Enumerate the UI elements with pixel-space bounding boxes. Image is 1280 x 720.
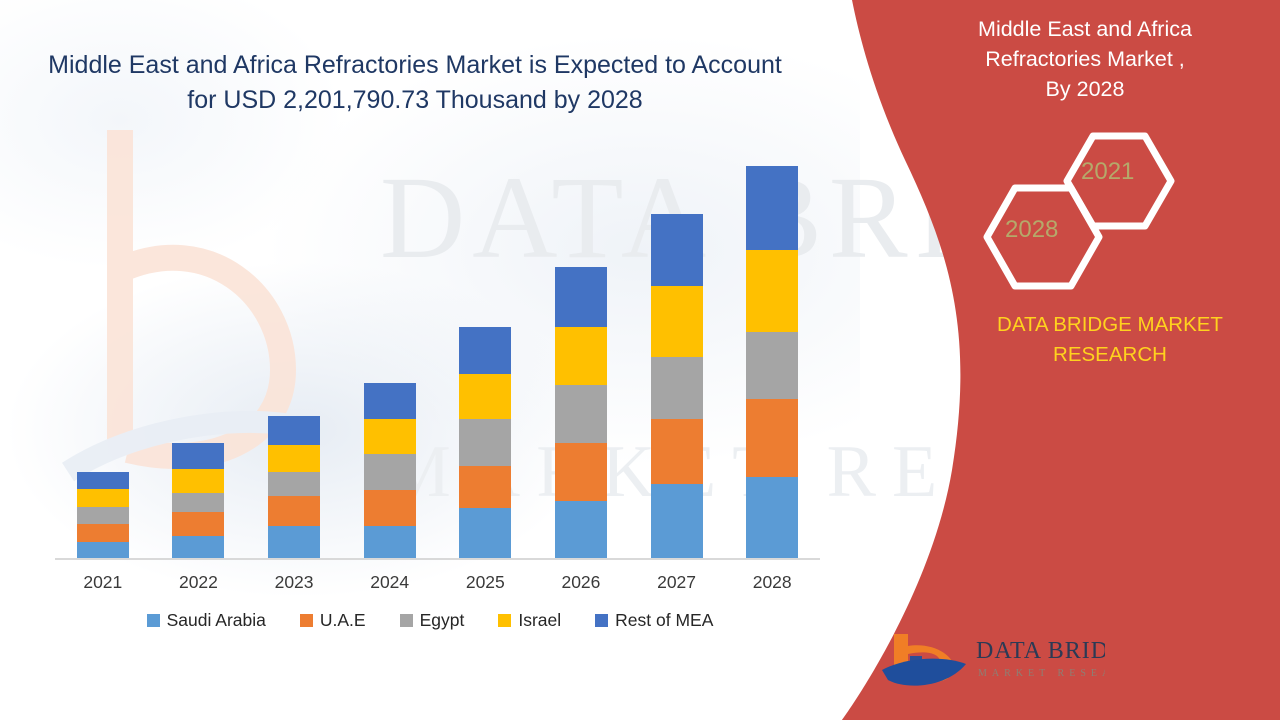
bar-segment-egypt-2021[interactable] bbox=[77, 507, 129, 524]
x-tick-label-2024: 2024 bbox=[342, 572, 438, 593]
hexagon-year-2028: 2028 bbox=[1005, 216, 1058, 244]
x-tick-label-2028: 2028 bbox=[724, 572, 820, 593]
logo-mark-icon bbox=[882, 634, 966, 686]
bar-segment-israel-2028[interactable] bbox=[746, 250, 798, 332]
bar-segment-saudiarabia-2026[interactable] bbox=[555, 501, 607, 559]
bar-segment-saudiarabia-2027[interactable] bbox=[651, 484, 703, 559]
bar-segment-egypt-2024[interactable] bbox=[364, 454, 416, 490]
bar-segment-israel-2023[interactable] bbox=[268, 445, 320, 472]
legend-item-uae[interactable]: U.A.E bbox=[300, 610, 366, 631]
legend-swatch-icon bbox=[147, 614, 160, 627]
x-tick-label-2023: 2023 bbox=[246, 572, 342, 593]
bar-segment-egypt-2025[interactable] bbox=[459, 419, 511, 466]
bar-column-2027[interactable] bbox=[651, 214, 703, 559]
bar-segment-egypt-2027[interactable] bbox=[651, 357, 703, 419]
bar-segment-saudiarabia-2024[interactable] bbox=[364, 526, 416, 559]
bar-segment-israel-2022[interactable] bbox=[172, 469, 224, 493]
bar-segment-egypt-2022[interactable] bbox=[172, 493, 224, 513]
bar-segment-uae-2021[interactable] bbox=[77, 524, 129, 541]
bar-column-2025[interactable] bbox=[459, 327, 511, 559]
x-tick-label-2026: 2026 bbox=[533, 572, 629, 593]
bar-segment-uae-2022[interactable] bbox=[172, 512, 224, 536]
bar-segment-israel-2027[interactable] bbox=[651, 286, 703, 357]
bar-column-2028[interactable] bbox=[746, 166, 798, 559]
bar-segment-restofmea-2024[interactable] bbox=[364, 383, 416, 419]
bar-segment-saudiarabia-2023[interactable] bbox=[268, 526, 320, 559]
watermark-trademark-icon: ™ bbox=[1205, 160, 1227, 186]
chart-legend: Saudi ArabiaU.A.EEgyptIsraelRest of MEA bbox=[0, 610, 860, 631]
legend-label: Rest of MEA bbox=[615, 610, 713, 631]
x-axis-line bbox=[55, 558, 820, 560]
data-bridge-logo: DATA BRIDGE MARKET RESEARCH bbox=[880, 630, 1105, 692]
bar-segment-egypt-2023[interactable] bbox=[268, 472, 320, 496]
bar-segment-israel-2024[interactable] bbox=[364, 419, 416, 454]
bar-column-2023[interactable] bbox=[268, 416, 320, 559]
bar-segment-egypt-2028[interactable] bbox=[746, 332, 798, 399]
bar-segment-saudiarabia-2028[interactable] bbox=[746, 477, 798, 559]
legend-item-israel[interactable]: Israel bbox=[498, 610, 561, 631]
bar-segment-uae-2024[interactable] bbox=[364, 490, 416, 526]
legend-swatch-icon bbox=[300, 614, 313, 627]
legend-swatch-icon bbox=[595, 614, 608, 627]
bar-segment-saudiarabia-2025[interactable] bbox=[459, 508, 511, 559]
panel-title-line-2: Refractories Market , bbox=[930, 44, 1240, 74]
bar-segment-uae-2023[interactable] bbox=[268, 496, 320, 527]
bar-segment-uae-2027[interactable] bbox=[651, 419, 703, 483]
x-tick-label-2025: 2025 bbox=[437, 572, 533, 593]
bar-segment-restofmea-2023[interactable] bbox=[268, 416, 320, 444]
year-hexagons: 2021 2028 bbox=[975, 130, 1190, 295]
panel-brand-line-1: DATA BRIDGE MARKET bbox=[955, 310, 1265, 340]
panel-title-line-3: By 2028 bbox=[930, 74, 1240, 104]
bar-column-2026[interactable] bbox=[555, 267, 607, 559]
bar-segment-saudiarabia-2021[interactable] bbox=[77, 542, 129, 559]
bar-segment-restofmea-2026[interactable] bbox=[555, 267, 607, 327]
bar-segment-restofmea-2021[interactable] bbox=[77, 472, 129, 489]
bar-segment-restofmea-2028[interactable] bbox=[746, 166, 798, 250]
legend-label: U.A.E bbox=[320, 610, 366, 631]
panel-title: Middle East and Africa Refractories Mark… bbox=[930, 14, 1240, 104]
legend-item-saudiarabia[interactable]: Saudi Arabia bbox=[147, 610, 266, 631]
bar-segment-uae-2026[interactable] bbox=[555, 443, 607, 501]
hexagon-year-2021: 2021 bbox=[1081, 158, 1134, 186]
bar-column-2021[interactable] bbox=[77, 472, 129, 559]
legend-label: Israel bbox=[518, 610, 561, 631]
bar-segment-israel-2021[interactable] bbox=[77, 489, 129, 506]
x-tick-label-2027: 2027 bbox=[629, 572, 725, 593]
panel-brand-name: DATA BRIDGE MARKET RESEARCH bbox=[955, 310, 1265, 370]
legend-label: Egypt bbox=[420, 610, 465, 631]
bar-column-2022[interactable] bbox=[172, 443, 224, 559]
x-tick-label-2022: 2022 bbox=[150, 572, 246, 593]
logo-wordmark-bottom: MARKET RESEARCH bbox=[978, 668, 1105, 679]
bar-segment-saudiarabia-2022[interactable] bbox=[172, 536, 224, 559]
bar-segment-egypt-2026[interactable] bbox=[555, 385, 607, 444]
panel-title-line-1: Middle East and Africa bbox=[930, 14, 1240, 44]
x-tick-label-2021: 2021 bbox=[55, 572, 151, 593]
legend-swatch-icon bbox=[498, 614, 511, 627]
legend-swatch-icon bbox=[400, 614, 413, 627]
bar-segment-uae-2028[interactable] bbox=[746, 399, 798, 478]
bar-segment-israel-2026[interactable] bbox=[555, 327, 607, 385]
bar-column-2024[interactable] bbox=[364, 383, 416, 559]
bar-segment-restofmea-2025[interactable] bbox=[459, 327, 511, 374]
legend-item-egypt[interactable]: Egypt bbox=[400, 610, 465, 631]
bar-segment-restofmea-2027[interactable] bbox=[651, 214, 703, 286]
logo-wordmark-top: DATA BRIDGE bbox=[976, 638, 1105, 664]
panel-brand-line-2: RESEARCH bbox=[955, 340, 1265, 370]
x-axis-tick-labels: 20212022202320242025202620272028 bbox=[55, 572, 820, 602]
bar-segment-israel-2025[interactable] bbox=[459, 374, 511, 420]
legend-item-restofmea[interactable]: Rest of MEA bbox=[595, 610, 713, 631]
bar-segment-restofmea-2022[interactable] bbox=[172, 443, 224, 468]
bar-segment-uae-2025[interactable] bbox=[459, 466, 511, 507]
chart-plot-area bbox=[55, 150, 820, 559]
infographic-canvas: DATA BRIDGE MARKET RESEARCH ™ Middle Eas… bbox=[0, 0, 1280, 720]
stacked-bar-chart: 20212022202320242025202620272028 Saudi A… bbox=[0, 0, 860, 660]
legend-label: Saudi Arabia bbox=[167, 610, 266, 631]
